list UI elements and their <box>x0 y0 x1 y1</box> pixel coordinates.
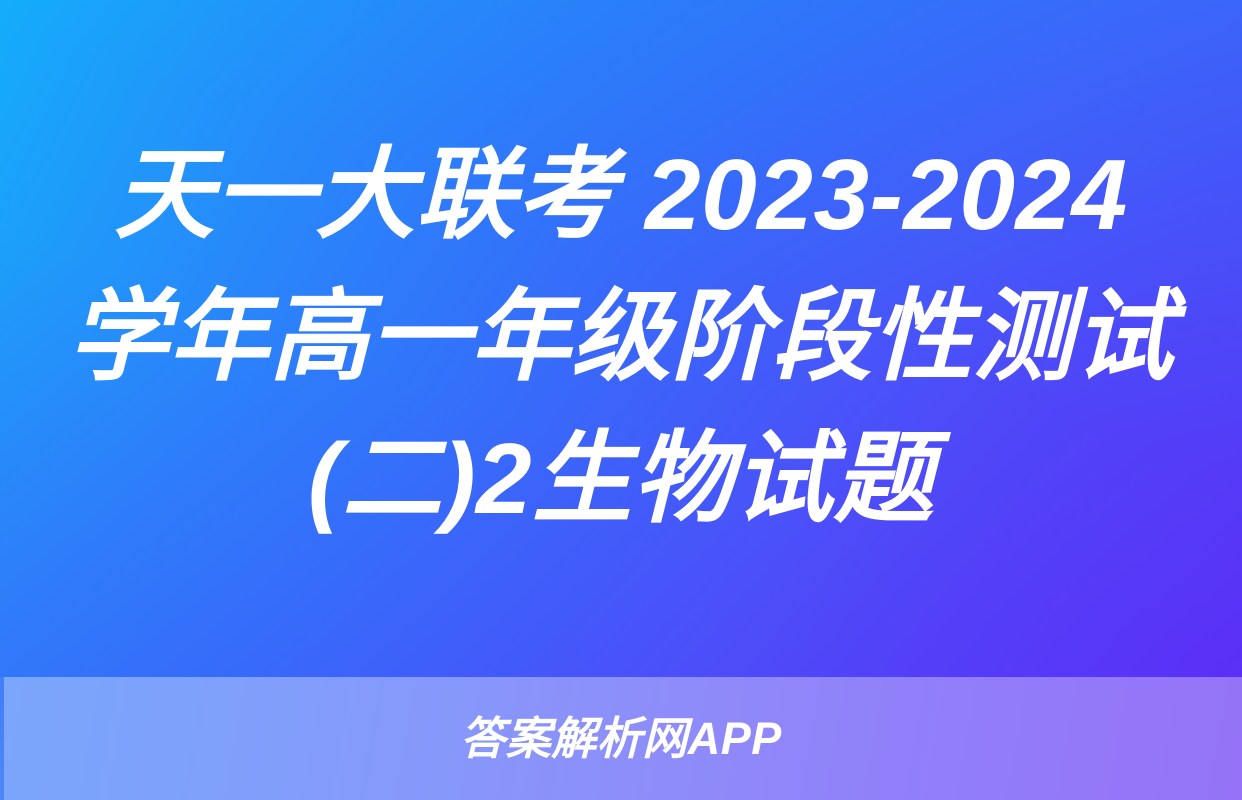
exam-title-card: 天一大联考 2023-2024 学年高一年级阶段性测试 (二)2生物试题 答案解… <box>0 0 1242 800</box>
exam-title-line-2: 学年高一年级阶段性测试 <box>68 266 1174 408</box>
app-watermark-label: 答案解析网APP <box>460 716 782 761</box>
exam-title: 天一大联考 2023-2024 学年高一年级阶段性测试 (二)2生物试题 <box>0 0 1242 677</box>
exam-title-line-3: (二)2生物试题 <box>308 408 934 550</box>
exam-title-line-1: 天一大联考 2023-2024 <box>114 124 1128 266</box>
footer-left-edge-accent <box>0 677 4 800</box>
hero-gradient-panel: 天一大联考 2023-2024 学年高一年级阶段性测试 (二)2生物试题 <box>0 0 1242 677</box>
footer-watermark-band: 答案解析网APP <box>0 677 1242 800</box>
